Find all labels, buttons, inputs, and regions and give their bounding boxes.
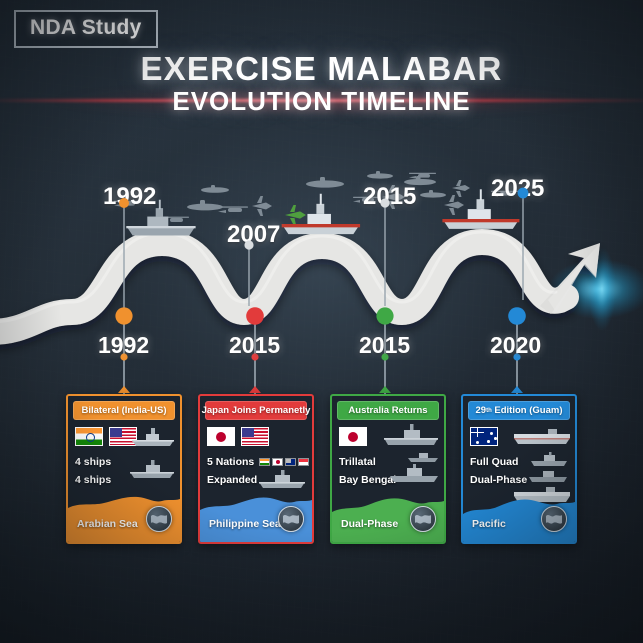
- japan-flag: [272, 458, 283, 466]
- card-2007-mini-flags: [259, 458, 309, 466]
- singapore-flag: [298, 458, 309, 466]
- milestone-dot-2015-green: [376, 307, 393, 324]
- usa-flag: [241, 427, 269, 446]
- card-2020-header-num: 29: [476, 405, 487, 416]
- card-2015-green-line1: Trillatal: [339, 456, 376, 468]
- warship-icon: [128, 428, 178, 448]
- card-1992-line1: 4 ships: [75, 456, 111, 468]
- card-2007[interactable]: Japan Joins Permanetly 5 Nations: [198, 394, 314, 544]
- card-2015-green-header: Australia Returns: [337, 401, 439, 420]
- globe-icon: [278, 506, 304, 532]
- infographic-canvas: NDA Study EXERCISE MALABAR EVOLUTION TIM…: [0, 0, 643, 643]
- card-1992-sea: Arabian Sea: [77, 518, 138, 530]
- card-2020-flags: [470, 427, 498, 446]
- card-2020[interactable]: 29th Edition (Guam): [461, 394, 577, 544]
- warship-icon: [386, 464, 442, 484]
- japan-flag: [207, 427, 235, 446]
- card-pointers: [118, 386, 523, 393]
- warship-icon: [529, 452, 571, 468]
- warship-icon: [406, 450, 440, 464]
- australia-flag: [285, 458, 296, 466]
- bottom-year-2015-red: 2015: [229, 332, 280, 359]
- card-1992[interactable]: Bilateral (India-US) 4 ships 4 ships: [66, 394, 182, 544]
- bottom-year-2020: 2020: [490, 332, 541, 359]
- card-2007-line1-row: 5 Nations: [207, 456, 309, 468]
- card-2015-green-flags: [339, 427, 367, 446]
- warship-icon: [255, 470, 309, 490]
- card-2007-header: Japan Joins Permanetly: [205, 401, 307, 420]
- card-2020-sea: Pacific: [472, 518, 506, 530]
- card-2007-flags: [207, 427, 269, 446]
- card-1992-body: 4 ships 4 ships Arabian Sea: [68, 420, 180, 542]
- japan-flag: [339, 427, 367, 446]
- warship-icon: [527, 468, 571, 484]
- milestone-dot-2015-red: [246, 307, 264, 325]
- card-2015-green-body: Trillatal Bay Bengal Dual-Phase: [332, 420, 444, 542]
- card-2020-line1: Full Quad: [470, 456, 518, 468]
- card-1992-header: Bilateral (India-US): [73, 401, 175, 420]
- australia-flag: [470, 427, 498, 446]
- milestone-dot-1992: [115, 307, 132, 324]
- card-2007-body: 5 Nations Expanded Philippine Sea: [200, 420, 312, 542]
- bottom-year-2015-green: 2015: [359, 332, 410, 359]
- top-dot-2015: [380, 198, 389, 207]
- warship-icon: [126, 460, 178, 480]
- warship-icon: [380, 424, 442, 448]
- card-2020-header: 29th Edition (Guam): [468, 401, 570, 420]
- card-1992-line2: 4 ships: [75, 474, 111, 486]
- top-dot-1992: [119, 198, 129, 208]
- card-2020-header-text: Edition (Guam): [494, 405, 562, 416]
- bottom-year-1992: 1992: [98, 332, 149, 359]
- card-2020-body: Full Quad Dual-Phase Pacific: [463, 420, 575, 542]
- globe-icon: [410, 506, 436, 532]
- milestone-dot-2020: [508, 307, 526, 325]
- card-2015-green-sea: Dual-Phase: [341, 518, 398, 530]
- india-flag: [75, 427, 103, 446]
- carrier-icon: [512, 426, 574, 446]
- globe-icon: [541, 506, 567, 532]
- globe-icon: [146, 506, 172, 532]
- card-2007-sea: Philippine Sea: [209, 518, 281, 530]
- top-dot-2007: [244, 240, 253, 249]
- card-2015-green[interactable]: Australia Returns Trillatal Bay Bengal: [330, 394, 446, 544]
- india-flag: [259, 458, 270, 466]
- milestone-dots-layer: [0, 0, 643, 643]
- card-2020-header-sup: th: [486, 408, 492, 414]
- card-2007-line1: 5 Nations: [207, 456, 254, 468]
- card-2007-line2: Expanded: [207, 474, 257, 486]
- top-dot-2025: [518, 188, 529, 199]
